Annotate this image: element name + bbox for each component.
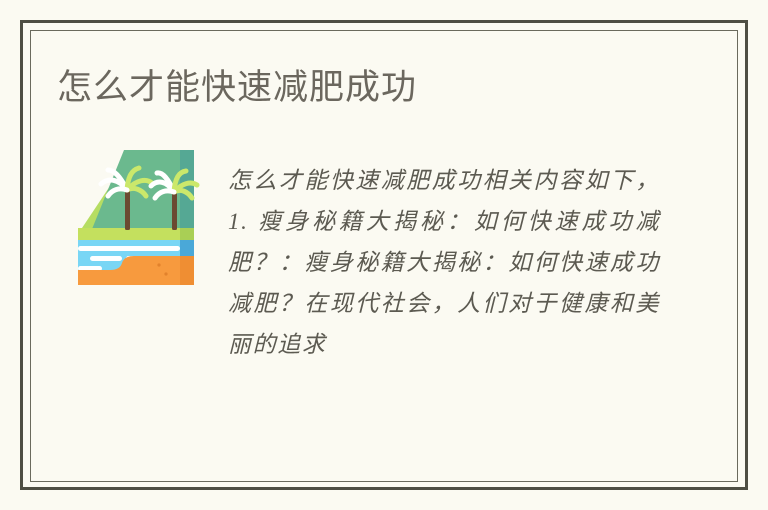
tropical-beach-illustration-icon [62,150,207,297]
article-card-page: 怎么才能快速减肥成功 [0,0,768,510]
article-thumbnail [62,150,207,297]
page-title: 怎么才能快速减肥成功 [57,66,417,110]
article-body-text: 怎么才能快速减肥成功相关内容如下，1. 瘦身秘籍大揭秘：如何快速成功减肥？：瘦身… [228,160,660,365]
